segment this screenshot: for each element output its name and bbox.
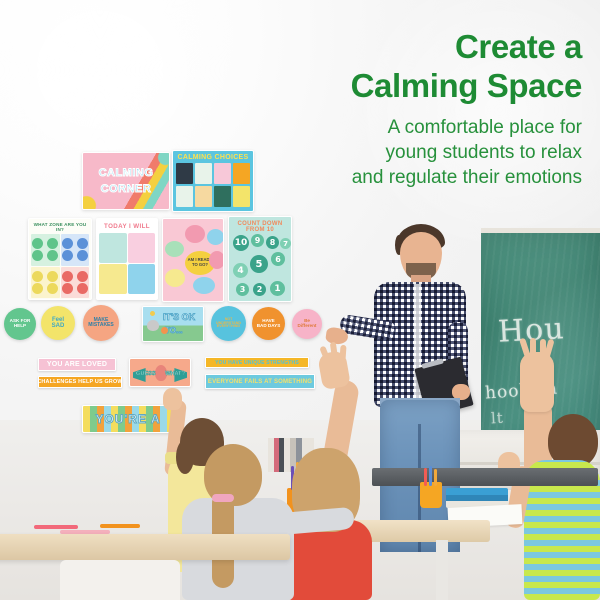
- ready-bubble: [209, 251, 224, 269]
- calming-choices-grid: [173, 161, 253, 209]
- zone-yellow: [31, 267, 60, 299]
- student-yellow-hand: [163, 388, 182, 410]
- countdown-number: 7: [280, 238, 291, 249]
- badge-line2: UNDERSTAND EVERYTHING: [214, 322, 243, 330]
- elephant-icon: [147, 320, 159, 331]
- today-puzzle-grid: [97, 233, 157, 296]
- ball-icon: [161, 327, 168, 334]
- badge-not-understand-everything: NOT UNDERSTAND EVERYTHING: [211, 306, 246, 341]
- badge-feel-sad: Feel SAD: [41, 306, 75, 340]
- classroom-scene: Hou hool Da lt Create a Calming Space A …: [0, 0, 600, 600]
- choice-tile: [176, 163, 193, 184]
- ready-bubble: [193, 277, 215, 294]
- poster-guess-what: GUESS WHAT?: [129, 358, 191, 387]
- badge-line2: MISTAKES: [88, 323, 113, 328]
- puzzle-keep-trying: [128, 264, 156, 294]
- desk-leg: [436, 540, 448, 600]
- finger: [530, 338, 536, 360]
- face-icon: [62, 250, 73, 261]
- choice-tile: [233, 186, 250, 207]
- countdown-number: 2: [253, 283, 266, 296]
- face-icon: [77, 271, 88, 282]
- poster-zone-chart: WHAT ZONE ARE YOU IN?: [28, 218, 92, 300]
- countdown-number: 4: [233, 263, 248, 278]
- countdown-title: COUNT DOWN FROM 10: [229, 217, 291, 233]
- countdown-number: 3: [236, 283, 249, 296]
- zone-red: [61, 267, 90, 299]
- face-icon: [47, 283, 58, 294]
- zone-blue: [61, 234, 90, 266]
- ready-bubble: [165, 241, 184, 257]
- choice-tile: [195, 163, 212, 184]
- badge-line2: Different: [298, 324, 317, 329]
- face-icon: [77, 283, 88, 294]
- calming-corner-line1: CALMING: [83, 167, 169, 179]
- face-icon: [62, 283, 73, 294]
- zone-chart-title: WHAT ZONE ARE YOU IN?: [29, 219, 91, 234]
- poster-its-ok-to: IT'S OK TO...: [142, 306, 204, 342]
- puzzle-use-kind-words: [128, 233, 156, 263]
- foreground-desk: [0, 534, 290, 560]
- zone-green: [31, 234, 60, 266]
- face-icon: [77, 250, 88, 261]
- title-line-1: Create a: [455, 28, 582, 65]
- poster-countdown: COUNT DOWN FROM 10 10 9 8 7 6 5 4 3 2 1: [228, 216, 292, 302]
- face-icon: [47, 250, 58, 261]
- pencil-on-desk: [34, 525, 78, 529]
- student-raised-hand: [520, 352, 554, 412]
- face-icon: [32, 271, 43, 282]
- countdown-numbers: 10 9 8 7 6 5 4 3 2 1: [229, 233, 291, 301]
- countdown-number: 9: [251, 234, 264, 247]
- pencil: [429, 466, 432, 486]
- guess-what-line2: WHAT?: [165, 371, 185, 377]
- poster-am-i-ready: AM I READY TO GO?: [162, 218, 224, 302]
- calming-choices-title: CALMING CHOICES: [173, 151, 253, 161]
- ready-bubble: [185, 225, 205, 243]
- zone-quadrants: [29, 234, 91, 300]
- guess-what-line1: GUESS: [136, 371, 156, 377]
- pencil-on-desk: [100, 524, 140, 528]
- countdown-number: 1: [270, 281, 285, 296]
- title-line-2: Calming Space: [351, 67, 582, 104]
- dot-decor: [150, 311, 155, 316]
- youre-a-text: YOU'RE A: [83, 406, 173, 432]
- countdown-number: 5: [250, 255, 268, 273]
- badge-line2: BAD DAYS: [257, 324, 281, 329]
- poster-calming-choices: CALMING CHOICES: [172, 150, 254, 212]
- face-icon: [32, 283, 43, 294]
- desk-back-surface: [372, 468, 598, 486]
- its-ok-line1: IT'S OK: [163, 312, 195, 322]
- pill-everyone-fails-at-something: EVERYONE FAILS AT SOMETHING: [205, 374, 315, 389]
- ready-bubble: [165, 269, 185, 287]
- ready-bubble: [207, 229, 224, 245]
- pill-you-have-unique-strengths: YOU HAVE UNIQUE STRENGTHS: [205, 357, 309, 368]
- finger: [339, 345, 346, 361]
- countdown-number: 10: [233, 235, 249, 251]
- subtitle-line-1: A comfortable place for: [388, 117, 582, 138]
- student-chair: [60, 560, 180, 600]
- badge-make-mistakes: MAKE MISTAKES: [83, 305, 119, 341]
- poster-youre-a: YOU'RE A: [82, 405, 174, 433]
- puzzle-learn-something-new: [99, 233, 127, 263]
- pill-challenges-help-us-grow: CHALLENGES HELP US GROW: [38, 376, 122, 388]
- poster-calming-corner: CALMING CORNER: [82, 152, 170, 210]
- face-icon: [32, 238, 43, 249]
- choice-tile: [176, 186, 193, 207]
- hair-tie: [212, 494, 234, 502]
- face-icon: [47, 238, 58, 249]
- countdown-number: 6: [271, 252, 285, 266]
- badge-be-different: Be Different: [292, 309, 322, 339]
- countdown-number: 8: [266, 236, 279, 249]
- rainbow-swirl-decor: [83, 153, 169, 209]
- poster-today-i-will: TODAY I WILL: [96, 218, 158, 300]
- badge-ask-for-help: ASK FOR HELP: [4, 308, 36, 340]
- face-icon: [47, 271, 58, 282]
- subtitle-line-3: and regulate their emotions: [352, 167, 582, 188]
- face-icon: [77, 238, 88, 249]
- pencil: [434, 469, 437, 486]
- choice-tile: [233, 163, 250, 184]
- badge-line2: SAD: [52, 323, 65, 329]
- choice-tile: [214, 163, 231, 184]
- calming-corner-line2: CORNER: [83, 183, 169, 195]
- face-icon: [62, 271, 73, 282]
- face-icon: [62, 238, 73, 249]
- badge-line2: HELP: [14, 324, 26, 329]
- pill-you-are-loved: YOU ARE LOVED: [38, 358, 116, 371]
- puzzle-believe-in-myself: [99, 264, 127, 294]
- subtitle-line-2: young students to relax: [386, 142, 582, 163]
- pencil: [424, 468, 427, 486]
- choice-tile: [195, 186, 212, 207]
- today-i-will-title: TODAY I WILL: [97, 219, 157, 233]
- choice-tile: [214, 186, 231, 207]
- finger: [540, 339, 546, 361]
- badge-have-bad-days: HAVE BAD DAYS: [252, 307, 285, 340]
- face-icon: [32, 250, 43, 261]
- chalkboard-text-line3: lt: [491, 409, 505, 428]
